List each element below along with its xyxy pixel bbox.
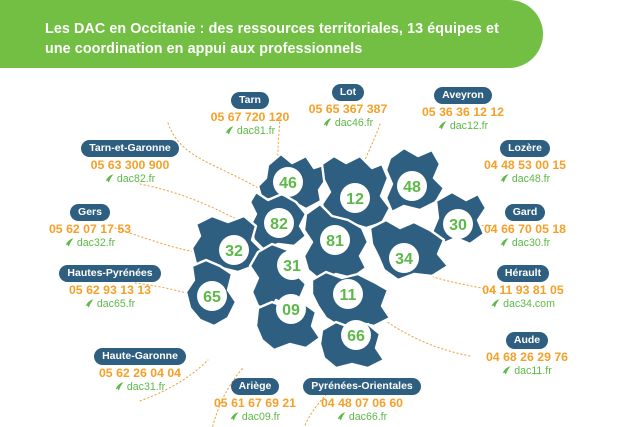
svg-text:82: 82 (270, 216, 288, 233)
dept-name-badge: Gard (505, 204, 546, 221)
phone-number[interactable]: 04 11 93 81 05 (428, 283, 618, 297)
phone-number[interactable]: 05 36 36 12 12 (368, 105, 558, 119)
arrow-link-icon (337, 412, 346, 421)
website-link[interactable]: dac48.fr (430, 173, 620, 186)
website-label: dac11.fr (514, 365, 552, 377)
arrow-link-icon (502, 366, 511, 375)
phone-number[interactable]: 04 66 70 05 18 (430, 222, 620, 236)
website-link[interactable]: dac30.fr (430, 237, 620, 250)
website-label: dac65.fr (97, 298, 135, 310)
marker-82: 82 (264, 208, 294, 238)
website-label: dac12.fr (450, 120, 488, 132)
marker-66: 66 (341, 320, 371, 350)
arrow-link-icon (491, 299, 500, 308)
callout-lozere: Lozère04 48 53 00 15dac48.fr (430, 138, 620, 186)
website-link[interactable]: dac11.fr (432, 365, 620, 378)
infographic-root: Les DAC en Occitanie : des ressources te… (0, 0, 620, 427)
svg-text:46: 46 (279, 175, 297, 192)
website-link[interactable]: dac34.com (428, 298, 618, 311)
callout-herault: Hérault04 11 93 81 05dac34.com (428, 263, 618, 311)
arrow-link-icon (323, 118, 332, 127)
svg-text:11: 11 (340, 287, 357, 304)
phone-number[interactable]: 04 48 53 00 15 (430, 158, 620, 172)
website-label: dac34.com (503, 298, 555, 310)
dept-name-badge: Pyrénées-Orientales (303, 378, 421, 395)
header-banner: Les DAC en Occitanie : des ressources te… (0, 0, 543, 68)
phone-number[interactable]: 04 48 07 06 60 (267, 396, 457, 410)
callout-aveyron: Aveyron05 36 36 12 12dac12.fr (368, 85, 558, 133)
marker-34: 34 (389, 243, 419, 273)
website-link[interactable]: dac82.fr (35, 173, 225, 186)
callout-gers: Gers05 62 07 17 53dac32.fr (0, 202, 185, 250)
svg-text:12: 12 (346, 191, 364, 208)
page-title: Les DAC en Occitanie : des ressources te… (45, 19, 515, 59)
website-link[interactable]: dac66.fr (267, 411, 457, 424)
marker-81: 81 (320, 225, 350, 255)
svg-text:31: 31 (283, 258, 301, 275)
phone-number[interactable]: 05 62 93 13 13 (15, 283, 205, 297)
arrow-link-icon (500, 174, 509, 183)
svg-text:32: 32 (225, 243, 243, 260)
svg-text:34: 34 (395, 251, 413, 268)
svg-text:65: 65 (203, 289, 221, 306)
website-label: dac30.fr (512, 237, 550, 249)
svg-text:66: 66 (347, 328, 365, 345)
arrow-link-icon (230, 412, 239, 421)
dept-name-badge: Haute-Garonne (94, 348, 186, 365)
svg-text:81: 81 (326, 233, 344, 250)
website-link[interactable]: dac65.fr (15, 298, 205, 311)
callout-aude: Aude04 68 26 29 76dac11.fr (432, 330, 620, 378)
website-label: dac32.fr (77, 237, 115, 249)
dept-name-badge: Lozère (500, 140, 550, 157)
callout-hautes-pyrenees: Hautes-Pyrénées05 62 93 13 13dac65.fr (15, 263, 205, 311)
marker-11: 11 (333, 279, 363, 309)
callout-tarn-et-garonne: Tarn-et-Garonne05 63 300 900dac82.fr (35, 138, 225, 186)
arrow-link-icon (85, 299, 94, 308)
dept-name-badge: Tarn-et-Garonne (81, 140, 178, 157)
dept-name-badge: Hautes-Pyrénées (59, 265, 160, 282)
arrow-link-icon (438, 121, 447, 130)
website-label: dac66.fr (349, 411, 387, 423)
phone-number[interactable]: 05 62 07 17 53 (0, 222, 185, 236)
callout-gard: Gard04 66 70 05 18dac30.fr (430, 202, 620, 250)
dept-name-badge: Aveyron (434, 87, 492, 104)
marker-46: 46 (273, 167, 303, 197)
marker-12: 12 (340, 183, 370, 213)
dept-name-badge: Hérault (497, 265, 549, 282)
marker-48: 48 (397, 171, 427, 201)
marker-31: 31 (277, 250, 307, 280)
arrow-link-icon (500, 238, 509, 247)
phone-number[interactable]: 04 68 26 29 76 (432, 350, 620, 364)
website-label: dac82.fr (117, 173, 155, 185)
arrow-link-icon (225, 126, 234, 135)
arrow-link-icon (115, 382, 124, 391)
arrow-link-icon (65, 238, 74, 247)
marker-32: 32 (219, 235, 249, 265)
marker-09: 09 (276, 294, 306, 324)
website-link[interactable]: dac32.fr (0, 237, 185, 250)
phone-number[interactable]: 05 63 300 900 (35, 158, 225, 172)
website-label: dac48.fr (512, 173, 550, 185)
dept-name-badge: Gers (70, 204, 110, 221)
callout-pyrenees-orientales: Pyrénées-Orientales04 48 07 06 60dac66.f… (267, 376, 457, 424)
svg-text:48: 48 (403, 179, 421, 196)
dept-name-badge: Lot (332, 84, 364, 101)
dept-name-badge: Aude (506, 332, 548, 349)
arrow-link-icon (105, 174, 114, 183)
website-link[interactable]: dac12.fr (368, 120, 558, 133)
svg-text:09: 09 (282, 302, 300, 319)
